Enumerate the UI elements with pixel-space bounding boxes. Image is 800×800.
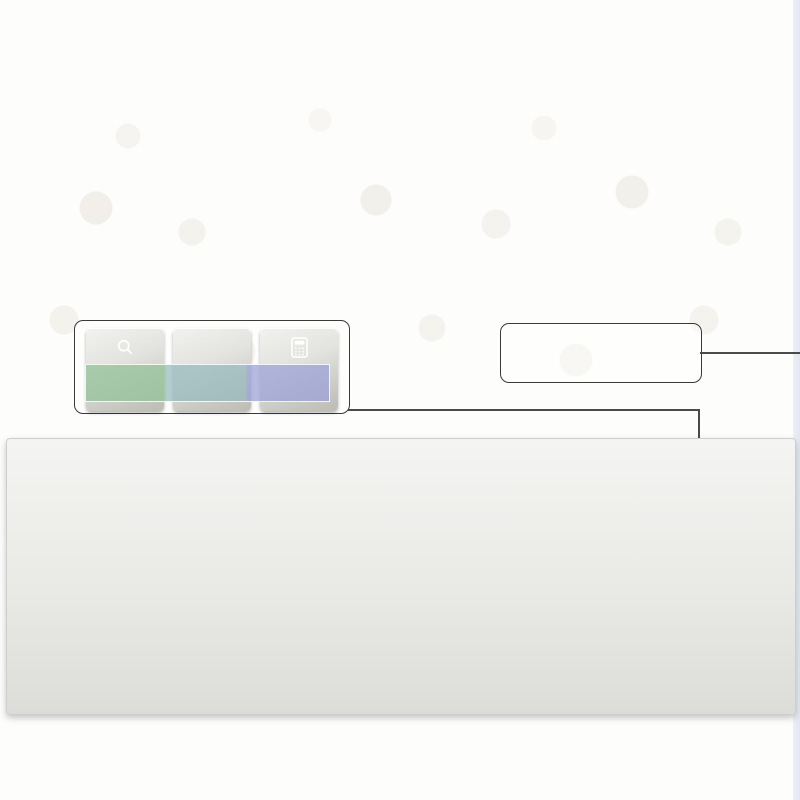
keyboard-inner xyxy=(7,439,795,714)
connector-music-horiz xyxy=(348,409,700,411)
calculator-icon xyxy=(291,337,308,358)
prev-track-slot xyxy=(86,365,167,401)
magnifier-icon xyxy=(115,337,135,357)
play-pause-slot xyxy=(167,365,248,401)
next-track-slot xyxy=(248,365,329,401)
music-control-overlay xyxy=(85,364,330,402)
connector-quick-calc xyxy=(700,352,800,354)
keyboard xyxy=(6,438,796,715)
quick-calculation-box xyxy=(500,323,702,383)
